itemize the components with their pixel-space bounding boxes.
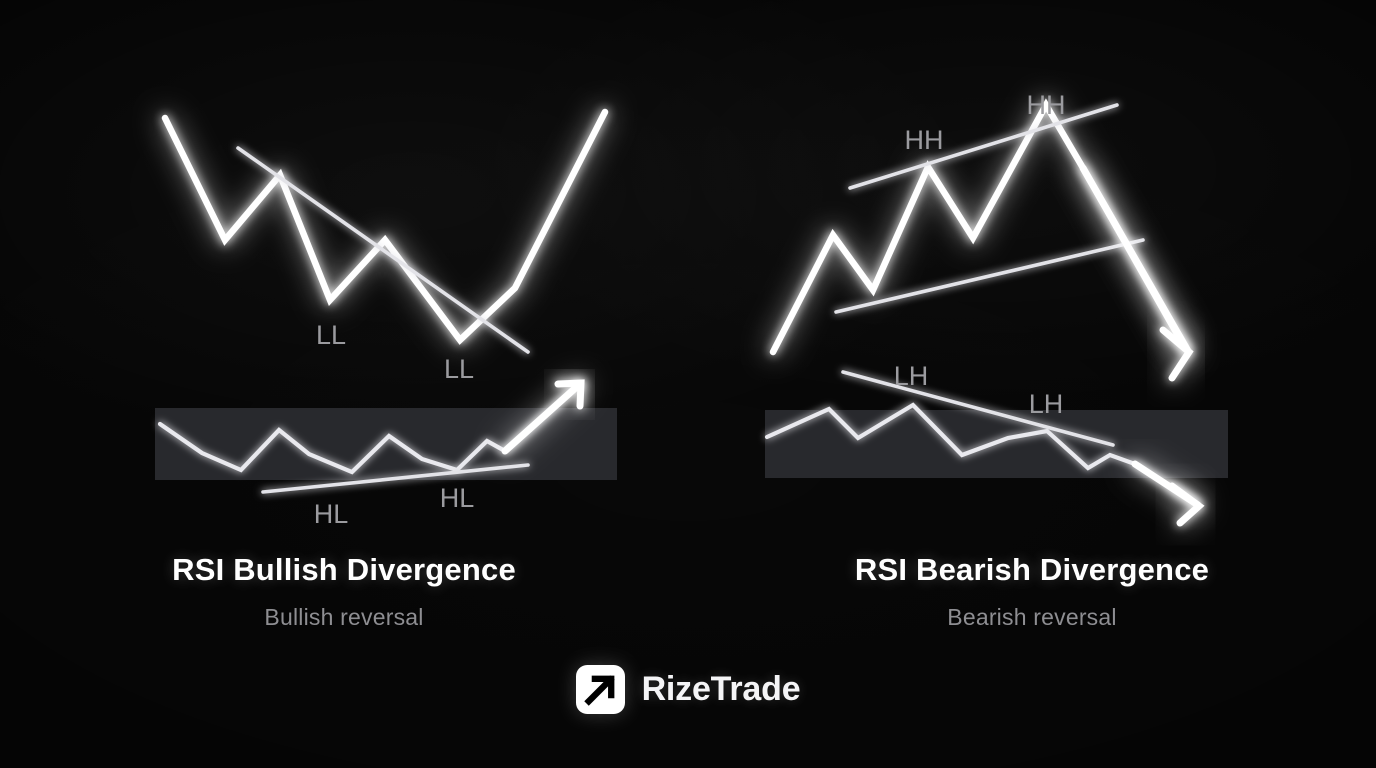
pivot-label-ll-1: LL <box>316 320 346 350</box>
pivot-label-hl-2: HL <box>440 483 475 513</box>
panel-rsi-bullish-divergence: LL LL HL HL RSI Bullish Divergence Bulli… <box>0 0 688 768</box>
rsi-indicator-band <box>155 408 617 480</box>
bearish-rsi-arrow-head <box>1172 486 1199 523</box>
pivot-label-lh-1: LH <box>894 361 929 391</box>
bearish-price-arrow-shaft <box>1083 168 1188 351</box>
brand-name: RizeTrade <box>642 670 801 709</box>
bullish-subtitle: Bullish reversal <box>0 604 688 631</box>
pivot-label-hh-2: HH <box>1027 90 1066 120</box>
bearish-subtitle: Bearish reversal <box>688 604 1376 631</box>
price-line-bullish <box>165 112 605 340</box>
pivot-label-hh-1: HH <box>905 125 944 155</box>
bullish-divergence-chart: LL LL HL HL <box>0 0 688 560</box>
arrow-up-right-in-rounded-square-icon <box>576 665 625 714</box>
bearish-price-arrow-head <box>1163 330 1189 378</box>
pivot-label-lh-2: LH <box>1029 389 1064 419</box>
pivot-label-ll-2: LL <box>444 354 474 384</box>
panel-rsi-bearish-divergence: HH HH LH LH RSI Bearish Divergence Beari… <box>688 0 1376 768</box>
price-line-bearish <box>773 105 1185 352</box>
bearish-divergence-chart: HH HH LH LH <box>688 0 1376 560</box>
pivot-label-hl-1: HL <box>314 499 349 529</box>
price-trendline-bullish <box>238 148 528 352</box>
bearish-title: RSI Bearish Divergence <box>688 552 1376 588</box>
brand-lockup: RizeTrade <box>0 665 1376 714</box>
bullish-title: RSI Bullish Divergence <box>0 552 688 588</box>
price-trendline-bearish-upper <box>850 105 1117 188</box>
divergence-infographic: LL LL HL HL RSI Bullish Divergence Bulli… <box>0 0 1376 768</box>
